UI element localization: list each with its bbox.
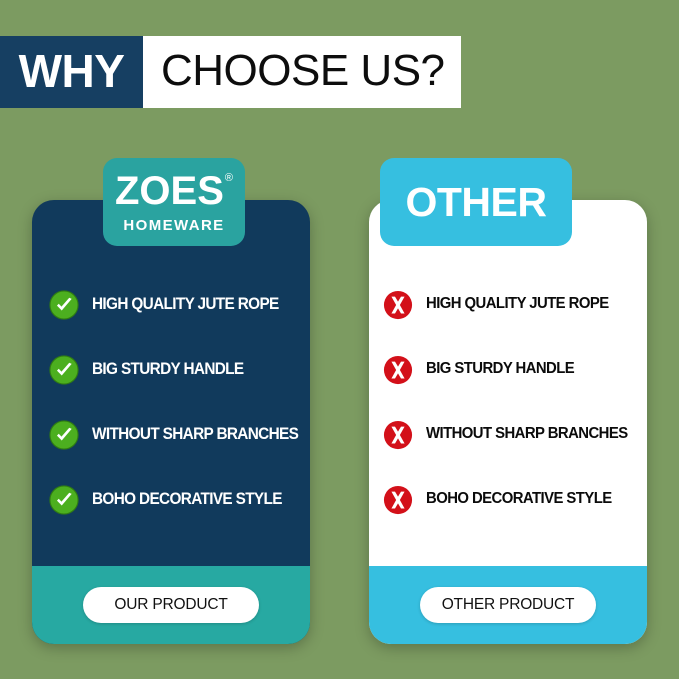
cross-circle-icon (383, 355, 413, 385)
page-title-banner: WHY CHOOSE US? (0, 36, 461, 108)
other-tab-label: OTHER (406, 182, 547, 223)
check-circle-icon (49, 420, 79, 450)
cross-circle-icon (383, 485, 413, 515)
other-product-button[interactable]: OTHER PRODUCT (420, 587, 596, 623)
feature-row: BOHO DECORATIVE STYLE (383, 467, 648, 532)
title-highlight-text: WHY (19, 48, 125, 94)
feature-row: BIG STURDY HANDLE (383, 337, 648, 402)
feature-row: BIG STURDY HANDLE (49, 337, 319, 402)
other-label-tab[interactable]: OTHER (380, 158, 572, 246)
cross-circle-icon (383, 290, 413, 320)
our-product-button[interactable]: OUR PRODUCT (83, 587, 259, 623)
feature-row: HIGH QUALITY JUTE ROPE (383, 272, 648, 337)
feature-label: HIGH QUALITY JUTE ROPE (426, 296, 609, 313)
zoes-brand-subtitle: HOMEWARE (123, 217, 224, 234)
other-feature-list: HIGH QUALITY JUTE ROPE BIG STURDY HANDLE… (383, 272, 648, 532)
feature-row: WITHOUT SHARP BRANCHES (49, 402, 319, 467)
registered-trademark-icon: ® (225, 173, 233, 184)
brand-feature-list: HIGH QUALITY JUTE ROPE BIG STURDY HANDLE (49, 272, 319, 532)
title-rest-text: CHOOSE US? (161, 49, 445, 93)
title-highlight-block: WHY (0, 36, 143, 108)
feature-label: BIG STURDY HANDLE (426, 361, 574, 378)
our-product-button-label: OUR PRODUCT (114, 596, 227, 614)
feature-label: BOHO DECORATIVE STYLE (426, 491, 612, 508)
zoes-wordmark: ZOES ® (115, 172, 233, 210)
check-circle-icon (49, 290, 79, 320)
feature-row: HIGH QUALITY JUTE ROPE (49, 272, 319, 337)
other-card-footer: OTHER PRODUCT (369, 566, 647, 644)
other-product-button-label: OTHER PRODUCT (442, 596, 575, 614)
zoes-brand-name: ZOES (115, 172, 224, 210)
brand-logo-tab[interactable]: ZOES ® HOMEWARE (103, 158, 245, 246)
feature-label: WITHOUT SHARP BRANCHES (426, 426, 628, 443)
feature-row: BOHO DECORATIVE STYLE (49, 467, 319, 532)
brand-card-footer: OUR PRODUCT (32, 566, 310, 644)
feature-label: BOHO DECORATIVE STYLE (92, 491, 282, 508)
check-circle-icon (49, 485, 79, 515)
cross-circle-icon (383, 420, 413, 450)
feature-row: WITHOUT SHARP BRANCHES (383, 402, 648, 467)
title-rest-block: CHOOSE US? (143, 36, 461, 108)
feature-label: BIG STURDY HANDLE (92, 361, 243, 378)
feature-label: WITHOUT SHARP BRANCHES (92, 426, 298, 443)
check-circle-icon (49, 355, 79, 385)
feature-label: HIGH QUALITY JUTE ROPE (92, 296, 279, 313)
comparison-poster: WHY CHOOSE US? OUR PRODUCT OTHER PRODUCT… (0, 0, 679, 679)
